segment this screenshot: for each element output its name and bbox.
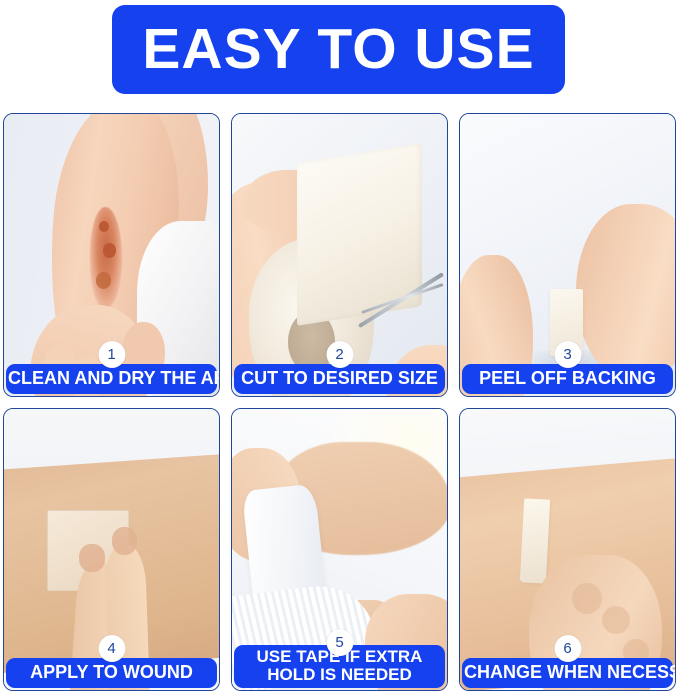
step-caption-1: CLEAN AND DRY THE AREA: [6, 364, 217, 394]
step-panel-1: 1 CLEAN AND DRY THE AREA: [3, 113, 220, 397]
step-number-badge-2: 2: [326, 341, 353, 368]
step-caption-3: PEEL OFF BACKING: [462, 364, 673, 394]
step-panel-5: 5 USE TAPE IF EXTRA HOLD IS NEEDED: [231, 408, 448, 692]
page-title: EASY TO USE: [142, 21, 534, 78]
step-panel-2: 2 CUT TO DESIRED SIZE: [231, 113, 448, 397]
step-number-badge-3: 3: [554, 341, 581, 368]
step-caption-6: CHANGE WHEN NECESSARY: [462, 658, 673, 688]
step-caption-5-line2: HOLD IS NEEDED: [236, 666, 443, 684]
step-number-badge-5: 5: [326, 629, 353, 656]
step-caption-2: CUT TO DESIRED SIZE: [234, 364, 445, 394]
step-number-badge-6: 6: [554, 635, 581, 662]
step-panel-4: 4 APPLY TO WOUND: [3, 408, 220, 692]
instruction-steps-grid: 1 CLEAN AND DRY THE AREA 2 CUT TO DESIRE…: [3, 113, 676, 691]
title-banner: EASY TO USE: [112, 5, 565, 94]
step-number-badge-1: 1: [98, 341, 125, 368]
step-panel-3: 3 PEEL OFF BACKING: [459, 113, 676, 397]
step-caption-4: APPLY TO WOUND: [6, 658, 217, 688]
step-panel-6: 6 CHANGE WHEN NECESSARY: [459, 408, 676, 692]
step-number-badge-4: 4: [98, 635, 125, 662]
